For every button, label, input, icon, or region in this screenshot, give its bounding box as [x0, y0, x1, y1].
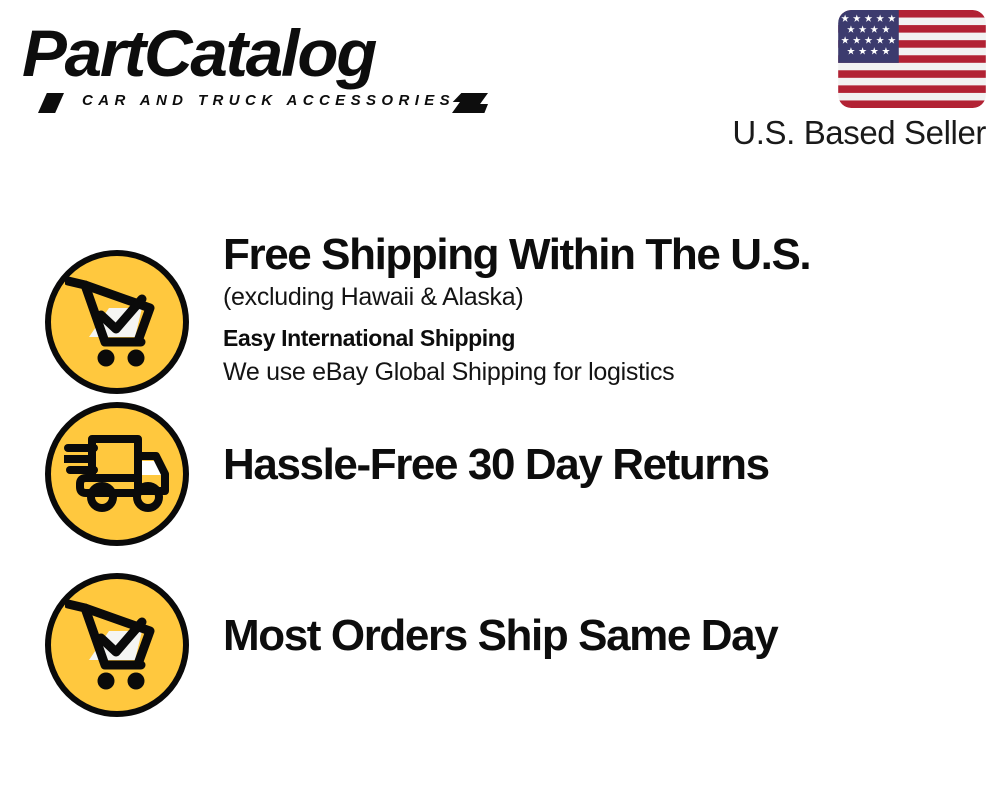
- logo-left-slash-icon: [38, 93, 64, 113]
- feature-text-block: Hassle-Free 30 Day Returns: [223, 440, 983, 490]
- brand-tagline: CAR AND TRUCK ACCESSORIES: [82, 92, 455, 109]
- feature-subtext: (excluding Hawaii & Alaska): [223, 280, 983, 314]
- brand-tagline-row: CAR AND TRUCK ACCESSORIES: [24, 92, 494, 116]
- feature-row: Hassle-Free 30 Day Returns: [0, 402, 1000, 547]
- feature-text-block: Most Orders Ship Same Day: [223, 611, 983, 661]
- feature-row: Free Shipping Within The U.S. (excluding…: [0, 230, 1000, 415]
- feature-heading: Most Orders Ship Same Day: [223, 611, 983, 661]
- delivery-truck-icon: [45, 402, 189, 546]
- delivery-truck-glyph: [64, 431, 170, 517]
- shopping-cart-check-glyph: [65, 275, 169, 369]
- shopping-cart-check-icon: [45, 250, 189, 394]
- feature-row: Most Orders Ship Same Day: [0, 573, 1000, 718]
- us-based-seller-badge: U.S. Based Seller: [720, 10, 986, 152]
- feature-heading: Hassle-Free 30 Day Returns: [223, 440, 983, 490]
- us-based-seller-label: U.S. Based Seller: [720, 114, 986, 152]
- brand-logo[interactable]: PartCatalog CAR AND TRUCK ACCESSORIES: [22, 18, 492, 118]
- us-flag-icon: [838, 10, 986, 108]
- shopping-cart-check-icon: [45, 573, 189, 717]
- brand-wordmark: PartCatalog: [22, 18, 501, 88]
- logo-right-slash-icon: [452, 93, 488, 113]
- page-header: PartCatalog CAR AND TRUCK ACCESSORIES: [0, 0, 1000, 180]
- feature-subtext-muted: We use eBay Global Shipping for logistic…: [223, 355, 983, 389]
- feature-heading: Free Shipping Within The U.S.: [223, 230, 983, 280]
- feature-subtext-strong: Easy International Shipping: [223, 321, 983, 355]
- feature-text-block: Free Shipping Within The U.S. (excluding…: [223, 230, 983, 389]
- shopping-cart-check-glyph: [65, 598, 169, 692]
